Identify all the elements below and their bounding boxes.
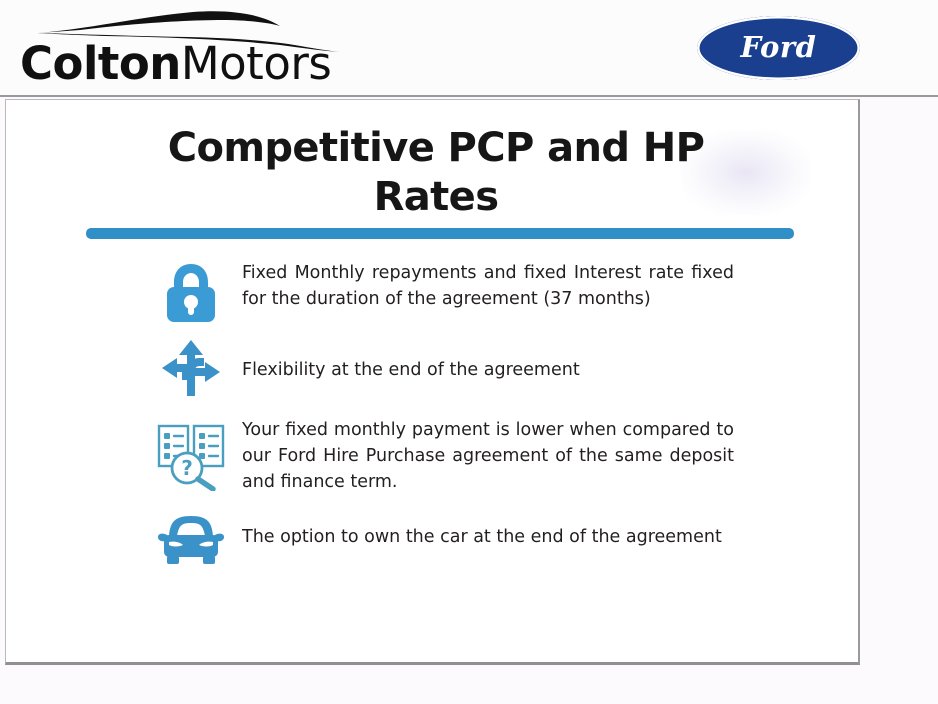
colton-motors-wordmark: ColtonMotors — [20, 41, 331, 86]
document-comparison-magnifier-icon: ? — [156, 421, 226, 491]
car-front-icon — [156, 514, 226, 566]
three-way-arrows-icon — [156, 338, 226, 398]
list-item: The option to own the car at the end of … — [6, 514, 860, 572]
header-bar: ColtonMotors Ford — [0, 0, 938, 97]
svg-text:?: ? — [181, 456, 193, 480]
content-panel: Competitive PCP and HP Rates Fixed Month… — [5, 99, 860, 665]
logo-text-bold: Colton — [20, 37, 181, 90]
feature-list: Fixed Monthly repayments and fixed Inter… — [6, 260, 860, 590]
accent-divider — [86, 228, 794, 239]
list-item: Flexibility at the end of the agreement — [6, 342, 860, 400]
slide-page: ColtonMotors Ford Competitive PCP and HP… — [0, 0, 938, 704]
list-item-text: Flexibility at the end of the agreement — [242, 342, 746, 384]
page-title: Competitive PCP and HP Rates — [126, 124, 746, 222]
colton-motors-logo[interactable]: ColtonMotors — [18, 5, 348, 93]
list-item: ? Your fixed monthly payment is lower wh… — [6, 418, 860, 496]
list-item-text: The option to own the car at the end of … — [242, 514, 746, 551]
list-item-text: Your fixed monthly payment is lower when… — [242, 418, 746, 496]
list-item: Fixed Monthly repayments and fixed Inter… — [6, 260, 860, 324]
list-item-text: Fixed Monthly repayments and fixed Inter… — [242, 260, 746, 313]
ford-logo[interactable]: Ford — [697, 16, 860, 80]
logo-text-light: Motors — [181, 37, 331, 90]
ford-wordmark: Ford — [697, 16, 860, 80]
padlock-icon — [156, 262, 226, 324]
